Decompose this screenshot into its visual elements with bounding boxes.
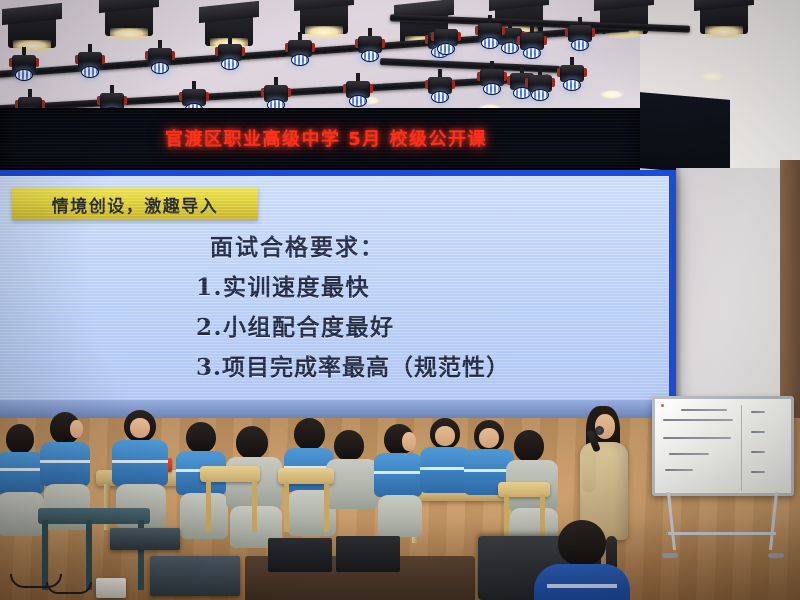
slide-bullet-3: 3.项目完成率最高（规范性） bbox=[196, 348, 510, 382]
whiteboard-note-line bbox=[669, 453, 709, 455]
slide-section-label: 情境创设，激趣导入 bbox=[12, 188, 258, 220]
whiteboard-note-line bbox=[663, 419, 733, 421]
par-light bbox=[480, 66, 504, 96]
downlight bbox=[700, 72, 724, 81]
par-light bbox=[346, 78, 370, 108]
led-display-panel[interactable]: 情境创设，激趣导入 面试合格要求： 1.实训速度最快 2.小组配合度最好 3.项… bbox=[0, 170, 676, 402]
slide-bullet-1: 1.实训速度最快 bbox=[196, 268, 370, 302]
chair-leg bbox=[540, 495, 545, 541]
whiteboard-stand bbox=[660, 492, 786, 556]
slide-heading: 面试合格要求： bbox=[210, 228, 385, 262]
par-light bbox=[288, 37, 312, 67]
par-light bbox=[12, 52, 36, 82]
fresnel-light bbox=[8, 14, 56, 48]
presentation-slide: 情境创设，激趣导入 面试合格要求： 1.实训速度最快 2.小组配合度最好 3.项… bbox=[0, 176, 669, 402]
par-light bbox=[528, 72, 552, 102]
par-light bbox=[568, 22, 592, 52]
laptop-screen[interactable] bbox=[336, 536, 400, 572]
whiteboard-note-line bbox=[751, 411, 765, 413]
downlight bbox=[600, 90, 624, 99]
slide-section-label-text: 情境创设，激趣导入 bbox=[52, 192, 219, 217]
whiteboard-note-line bbox=[751, 471, 765, 473]
banner-side-panel bbox=[640, 92, 730, 176]
whiteboard-divider bbox=[741, 405, 742, 491]
par-light bbox=[148, 45, 172, 75]
whiteboard-note-line bbox=[751, 451, 765, 453]
par-light bbox=[218, 41, 242, 71]
fresnel-light bbox=[700, 0, 748, 34]
equipment-case bbox=[150, 556, 240, 596]
floor-power-box bbox=[96, 578, 126, 598]
par-light bbox=[428, 74, 452, 104]
whiteboard-magnet bbox=[661, 404, 664, 407]
laptop-screen[interactable] bbox=[268, 538, 332, 572]
chair-leg bbox=[284, 482, 289, 532]
whiteboard-note-line bbox=[751, 431, 765, 433]
par-light bbox=[520, 30, 544, 60]
teacher-arm bbox=[582, 450, 596, 492]
par-light bbox=[78, 49, 102, 79]
par-light bbox=[560, 62, 584, 92]
chair-leg bbox=[206, 480, 211, 532]
whiteboard[interactable] bbox=[652, 396, 794, 496]
chair-leg bbox=[252, 480, 257, 532]
fresnel-light bbox=[300, 0, 348, 34]
whiteboard-note-line bbox=[665, 469, 693, 471]
par-light bbox=[358, 33, 382, 63]
chair-leg bbox=[504, 495, 509, 541]
par-light bbox=[434, 26, 458, 56]
doorway bbox=[780, 160, 800, 420]
equipment-case bbox=[110, 528, 180, 550]
fresnel-light bbox=[105, 2, 153, 36]
led-scrolling-banner: 官渡区职业高级中学 5月 校级公开课 bbox=[0, 108, 640, 170]
microphone-head bbox=[595, 426, 604, 435]
led-banner-text: 官渡区职业高级中学 5月 校级公开课 bbox=[165, 125, 487, 151]
chair-leg bbox=[324, 482, 329, 532]
whiteboard-note-line bbox=[681, 409, 727, 411]
par-light bbox=[478, 20, 502, 50]
slide-bullet-2: 2.小组配合度最好 bbox=[196, 308, 395, 342]
cable bbox=[46, 582, 92, 594]
classroom-photo-scene: 官渡区职业高级中学 5月 校级公开课 情境创设，激趣导入 面试合格要求： 1.实… bbox=[0, 0, 800, 600]
whiteboard-note-line bbox=[663, 437, 731, 439]
